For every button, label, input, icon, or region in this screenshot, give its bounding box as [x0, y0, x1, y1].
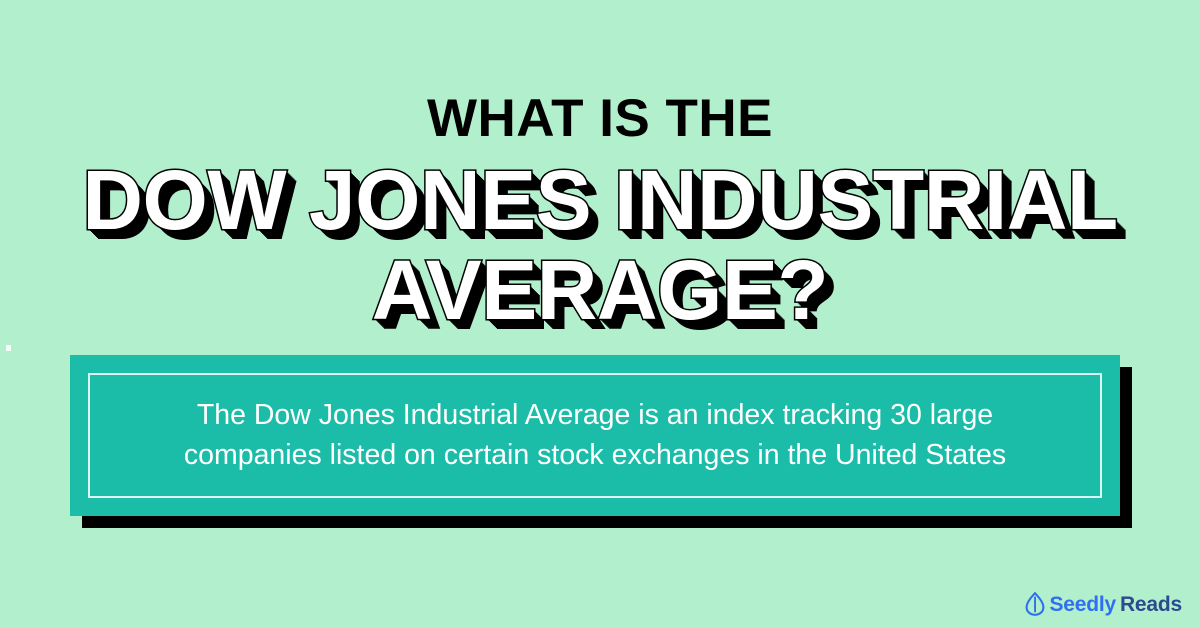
- brand-name-secondary: Reads: [1120, 593, 1182, 616]
- page-title-line-1: DOW JONES INDUSTRIAL: [0, 159, 1200, 241]
- page-title-line-2: AVERAGE?: [0, 249, 1200, 331]
- brand-name-row: SeedlyReads: [1049, 594, 1182, 615]
- brand-logo[interactable]: SeedlyReads: [1025, 592, 1182, 616]
- callout-box: The Dow Jones Industrial Average is an i…: [70, 355, 1120, 516]
- brand-name-primary: Seedly: [1049, 593, 1116, 616]
- page-title: DOW JONES INDUSTRIAL AVERAGE?: [0, 159, 1200, 332]
- headline-block: WHAT IS THE DOW JONES INDUSTRIAL AVERAGE…: [0, 92, 1200, 332]
- seedly-leaf-icon: [1025, 592, 1045, 616]
- callout-body-text: The Dow Jones Industrial Average is an i…: [145, 396, 1045, 475]
- callout-panel: The Dow Jones Industrial Average is an i…: [70, 355, 1120, 516]
- headline-kicker: WHAT IS THE: [0, 92, 1200, 145]
- stray-dot-artifact: [6, 345, 11, 351]
